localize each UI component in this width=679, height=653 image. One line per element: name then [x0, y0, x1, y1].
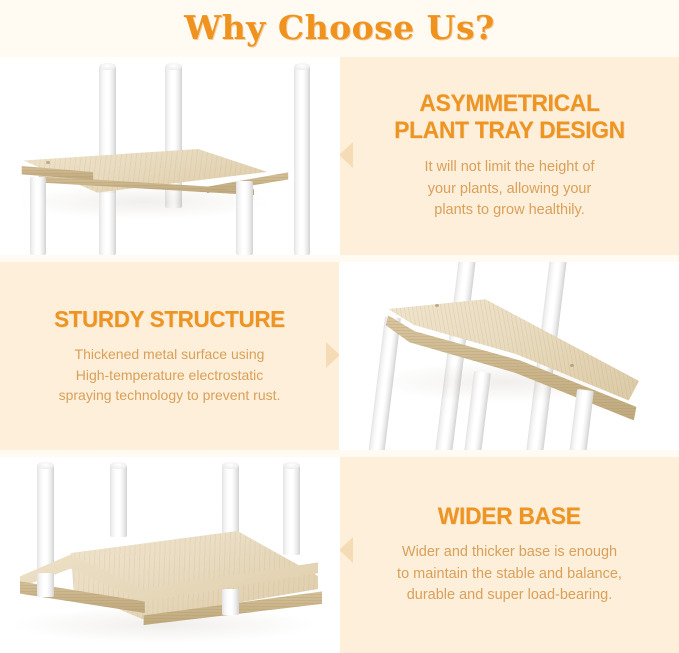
feature-heading-2: STURDY STRUCTURE [54, 306, 285, 332]
feature-heading-3: WIDER BASE [438, 504, 581, 531]
screw-hole-left [46, 161, 50, 164]
shelf-board [21, 149, 267, 201]
product-illustration-wide-base [0, 457, 340, 653]
feature-body-1: It will not limit the height of your pla… [424, 157, 594, 221]
base-board [20, 531, 318, 631]
feature-row-2: STURDY STRUCTURE Thickened metal surface… [0, 262, 679, 450]
product-illustration-angled-tray [339, 262, 679, 450]
feature-photo-asymmetrical-plant-tray-design [0, 57, 340, 255]
feature-heading-1: ASYMMETRICAL PLANT TRAY DESIGN [394, 91, 625, 145]
page-title: Why Choose Us? [184, 8, 495, 47]
feature-body-3: Wider and thicker base is enough to main… [397, 542, 622, 606]
page-title-bar: Why Choose Us? [0, 0, 679, 55]
feature-row-1: ASYMMETRICAL PLANT TRAY DESIGN It will n… [0, 57, 679, 255]
feature-photo-wider-base [0, 457, 340, 653]
product-illustration-tray-shelf [0, 57, 340, 255]
panel-notch-left-icon [340, 142, 353, 168]
angled-shelf-board [383, 298, 639, 420]
screw-hole-angled-right [570, 364, 574, 367]
leg-front-mid [99, 193, 116, 255]
base-leg-front-left-bottom [37, 573, 54, 597]
feature-text-asymmetrical-plant-tray-design: ASYMMETRICAL PLANT TRAY DESIGN It will n… [340, 57, 679, 255]
leg-front-left [30, 177, 46, 255]
base-leg-front-right-bottom [222, 589, 239, 615]
infographic-page: Why Choose Us? [0, 0, 679, 653]
screw-hole-angled-left [435, 304, 439, 307]
panel-notch-right-icon [326, 342, 339, 368]
feature-text-wider-base: WIDER BASE Wider and thicker base is eno… [340, 457, 679, 653]
feature-photo-sturdy-structure [339, 262, 679, 450]
feature-body-2: Thickened metal surface using High-tempe… [59, 344, 281, 406]
feature-row-3: WIDER BASE Wider and thicker base is eno… [0, 457, 679, 653]
feature-text-sturdy-structure: STURDY STRUCTURE Thickened metal surface… [0, 262, 339, 450]
base-leg-back-left [110, 465, 127, 537]
panel-notch-left-icon-3 [340, 537, 353, 563]
leg-far-right [294, 66, 310, 255]
leg-front-right [236, 181, 253, 255]
